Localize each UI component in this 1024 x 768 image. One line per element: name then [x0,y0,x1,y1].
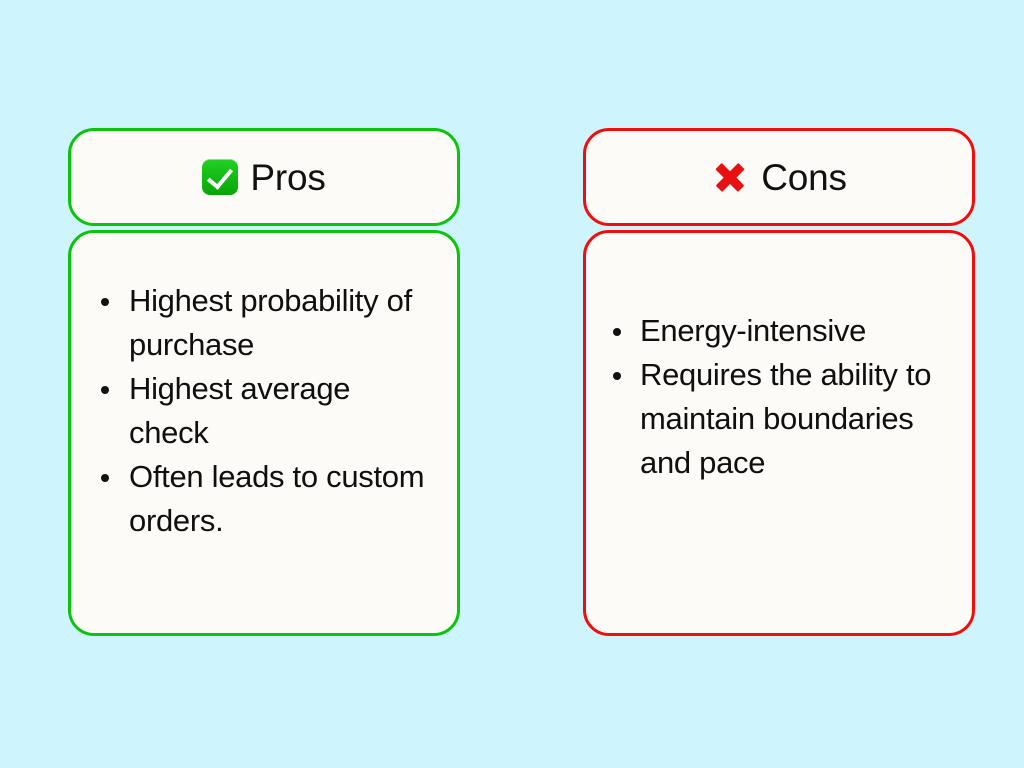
pros-header-card: Pros [68,128,460,226]
list-item: Highest probability of purchase [93,279,435,367]
check-mark-button-icon [202,159,238,195]
pros-body-card: Highest probability of purchase Highest … [68,230,460,636]
pros-title: Pros [250,159,325,196]
pros-list: Highest probability of purchase Highest … [93,279,435,543]
pros-cons-diagram: Pros Highest probability of purchase Hig… [0,0,1024,768]
cons-header-card: Cons [583,128,975,226]
cons-list: Energy-intensive Requires the ability to… [608,309,950,485]
list-item: Energy-intensive [608,309,950,353]
cross-mark-icon [711,158,749,196]
cons-body-card: Energy-intensive Requires the ability to… [583,230,975,636]
pros-column: Pros Highest probability of purchase Hig… [68,128,460,636]
cons-column: Cons Energy-intensive Requires the abili… [583,128,975,636]
list-item: Highest average check [93,367,435,455]
cons-title: Cons [761,159,847,196]
list-item: Often leads to custom orders. [93,455,435,543]
list-item: Requires the ability to maintain boundar… [608,353,950,485]
